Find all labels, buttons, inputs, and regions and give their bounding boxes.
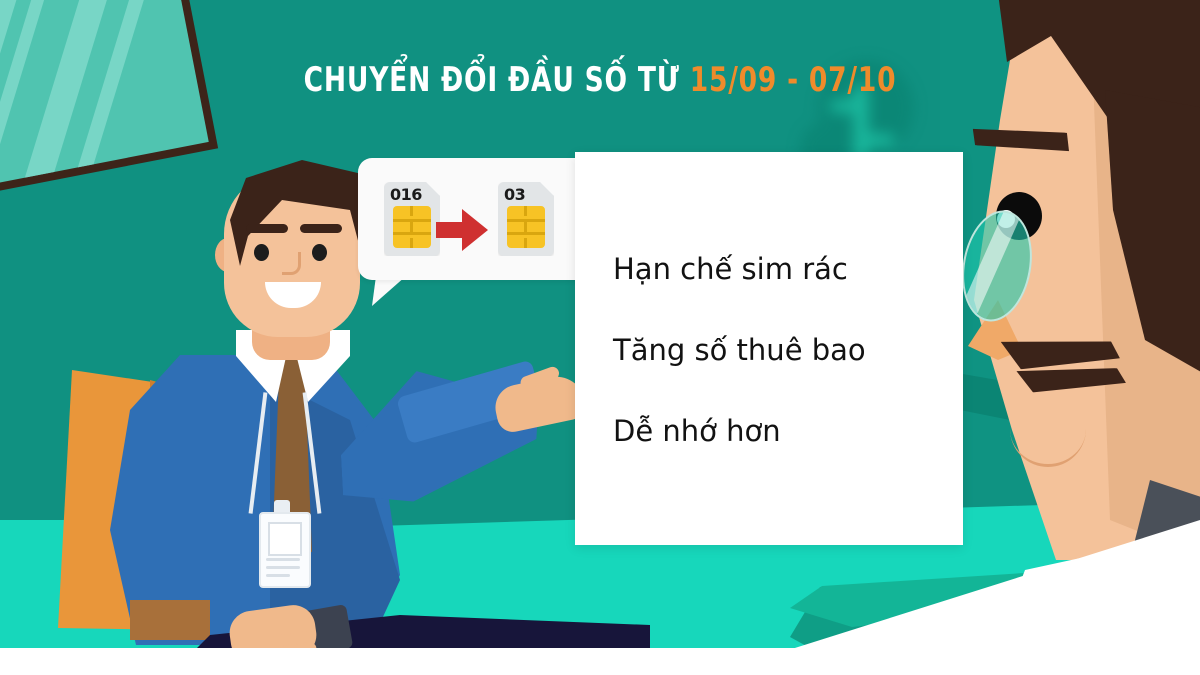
desk-edge [130,600,210,640]
sim-from-label: 016 [390,185,422,204]
agent-eyebrow-right [300,224,342,233]
agent-eyebrow-left [246,224,288,233]
agent-eye-left [254,244,269,261]
agent-eye-right [312,244,327,261]
illustration-scene: 016 03 Hạn chế sim rác Tăng số thuê [0,0,1200,675]
cactus-arm [830,100,858,112]
badge-text-line [266,574,290,577]
cactus-arm [864,134,894,146]
title-date-range: 15/09 - 07/10 [690,60,897,100]
title-main-text: CHUYỂN ĐỔI ĐẦU SỐ TỪ [304,60,680,100]
sim-card-to: 03 [498,182,554,256]
badge-text-line [266,558,300,561]
bottom-white-strip [0,648,1200,675]
sim-chip-icon [393,206,431,248]
agent-nose [282,252,301,275]
badge-text-line [266,566,300,569]
page-title: CHUYỂN ĐỔI ĐẦU SỐ TỪ 15/09 - 07/10 [132,63,1068,97]
sim-to-label: 03 [504,185,525,204]
benefit-item-3: Dễ nhớ hơn [613,414,781,448]
benefit-item-1: Hạn chế sim rác [613,252,848,286]
sim-card-from: 016 [384,182,440,256]
benefits-panel: Hạn chế sim rác Tăng số thuê bao Dễ nhớ … [575,152,963,545]
badge-photo [268,522,302,556]
sim-chip-icon [507,206,545,248]
right-arrow-icon [436,222,466,238]
benefit-item-2: Tăng số thuê bao [613,333,866,367]
